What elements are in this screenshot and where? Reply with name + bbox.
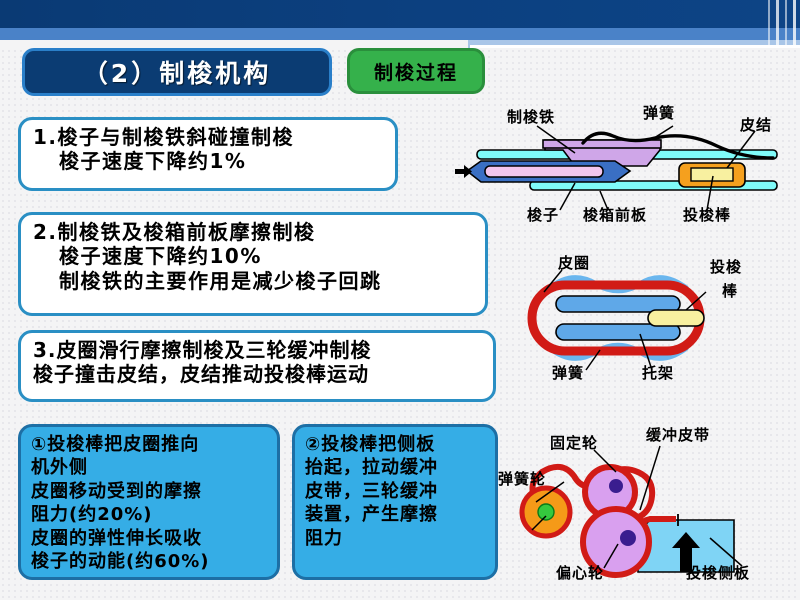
point-box-2: 2.制梭铁及梭箱前板摩擦制梭 梭子速度下降约10% 制梭铁的主要作用是减少梭子回… <box>18 212 488 316</box>
label-picker: 皮结 <box>740 114 772 135</box>
header-band-white <box>0 40 468 48</box>
label-brake-iron: 制梭铁 <box>507 106 555 127</box>
note-box-1: ①投梭棒把皮圈推向 机外侧 皮圈移动受到的摩擦 阻力(约20%) 皮圈的弹性伸长… <box>18 424 280 580</box>
point-2-line-1: 2.制梭铁及梭箱前板摩擦制梭 <box>33 220 475 244</box>
label-picking-stick-line2: 棒 <box>722 280 738 301</box>
point-box-3: 3.皮圈滑行摩擦制梭及三轮缓冲制梭 梭子撞击皮结，皮结推动投梭棒运动 <box>18 330 496 402</box>
label-spring: 弹簧 <box>552 362 584 383</box>
note-2-line-4: 装置，产生摩擦 <box>305 503 489 526</box>
note-1-line-2: 机外侧 <box>31 456 271 479</box>
label-strap: 皮圈 <box>558 252 590 273</box>
note-1-line-6: 梭子的动能(约60%) <box>31 550 271 573</box>
note-1-line-5: 皮圈的弹性伸长吸收 <box>31 527 271 550</box>
label-eccentric-wheel: 偏心轮 <box>556 562 604 583</box>
note-box-2: ②投梭棒把侧板 抬起，拉动缓冲 皮带，三轮缓冲 装置，产生摩擦 阻力 <box>292 424 498 580</box>
point-2-line-3: 制梭铁的主要作用是减少梭子回跳 <box>33 269 475 293</box>
label-picking-stick-line1: 投梭 <box>710 256 742 277</box>
header-vertical-stripes <box>760 0 800 48</box>
point-1-line-1: 1.梭子与制梭铁斜碰撞制梭 <box>33 125 385 149</box>
note-1-line-3: 皮圈移动受到的摩擦 <box>31 480 271 503</box>
note-2-line-5: 阻力 <box>305 527 489 550</box>
label-spring: 弹簧 <box>643 102 675 123</box>
diagram-shuttle-box: 制梭铁 弹簧 皮结 梭子 梭箱前板 投梭棒 <box>455 98 800 223</box>
slide-title: （2）制梭机构 <box>22 48 332 96</box>
note-1-line-4: 阻力(约20%) <box>31 503 271 526</box>
note-1-line-1: ①投梭棒把皮圈推向 <box>31 433 271 456</box>
label-fixed-wheel: 固定轮 <box>550 432 598 453</box>
note-2-line-1: ②投梭棒把侧板 <box>305 433 489 456</box>
diagram-strap-loop: 皮圈 投梭 棒 弹簧 托架 <box>500 252 800 382</box>
point-1-line-2: 梭子速度下降约1% <box>33 149 385 173</box>
header-band-dark <box>0 0 800 28</box>
label-buffer-belt: 缓冲皮带 <box>646 424 710 445</box>
label-front-plate: 梭箱前板 <box>583 204 647 225</box>
slide-canvas: （2）制梭机构 制梭过程 1.梭子与制梭铁斜碰撞制梭 梭子速度下降约1% 2.制… <box>0 0 800 600</box>
label-spring-wheel: 弹簧轮 <box>498 468 546 489</box>
diagram-three-wheel: 固定轮 缓冲皮带 弹簧轮 偏心轮 投梭侧板 <box>498 420 800 588</box>
point-box-1: 1.梭子与制梭铁斜碰撞制梭 梭子速度下降约1% <box>18 117 398 191</box>
point-3-line-2: 梭子撞击皮结，皮结推动投梭棒运动 <box>33 362 483 386</box>
label-picking-stick: 投梭棒 <box>683 204 731 225</box>
label-bracket: 托架 <box>642 362 674 383</box>
point-2-line-2: 梭子速度下降约10% <box>33 244 475 268</box>
process-badge[interactable]: 制梭过程 <box>347 48 485 94</box>
note-2-line-3: 皮带，三轮缓冲 <box>305 480 489 503</box>
header-white-streak <box>470 45 800 48</box>
label-shuttle: 梭子 <box>527 204 559 225</box>
label-side-plate: 投梭侧板 <box>686 562 750 583</box>
note-2-line-2: 抬起，拉动缓冲 <box>305 456 489 479</box>
header-band-mid <box>0 28 800 40</box>
point-3-line-1: 3.皮圈滑行摩擦制梭及三轮缓冲制梭 <box>33 338 483 362</box>
